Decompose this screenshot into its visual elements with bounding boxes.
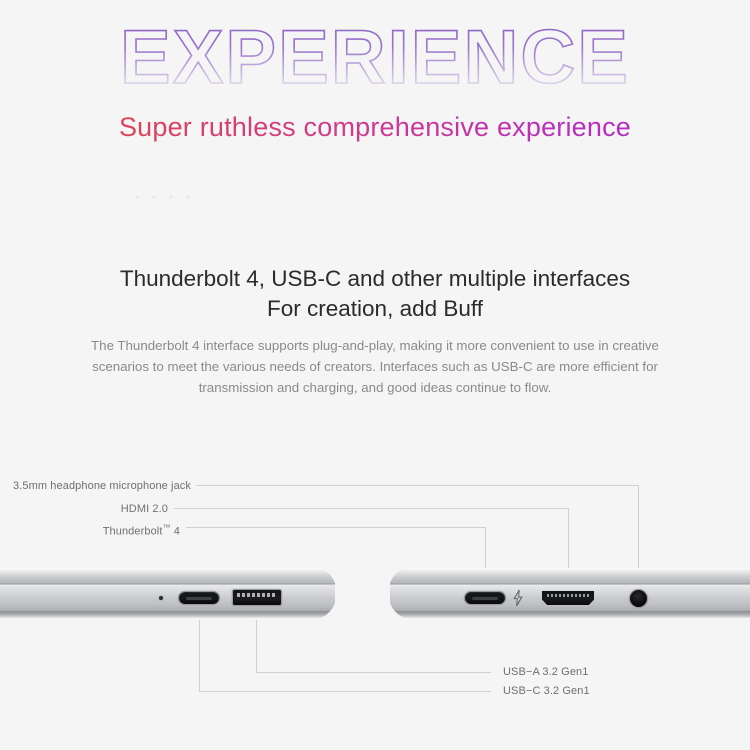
status-led-icon bbox=[159, 596, 163, 600]
decorative-dots bbox=[135, 193, 195, 203]
section-heading-line2: For creation, add Buff bbox=[0, 294, 750, 324]
laptop-right-side-profile bbox=[390, 568, 750, 618]
callout-label-thunderbolt: Thunderbolt™ 4 bbox=[0, 521, 180, 539]
dot-icon bbox=[135, 195, 139, 199]
hdmi-port[interactable] bbox=[542, 591, 594, 605]
laptop-lid bbox=[390, 568, 750, 583]
laptop-left-rounded-end bbox=[311, 566, 337, 620]
lid-highlight bbox=[0, 568, 335, 570]
section-heading-line1: Thunderbolt 4, USB-C and other multiple … bbox=[120, 266, 630, 291]
leader-line-usba-horizontal bbox=[256, 672, 491, 673]
leader-line-hdmi-horizontal bbox=[174, 508, 568, 509]
section-body-text: The Thunderbolt 4 interface supports plu… bbox=[65, 335, 685, 398]
laptop-chamfer bbox=[390, 611, 750, 618]
laptop-lid bbox=[0, 568, 335, 583]
callout-label-headphone-jack: 3.5mm headphone microphone jack bbox=[0, 479, 191, 493]
hero-outline-title-wrap: EXPERIENCE bbox=[0, 12, 750, 104]
hero-subtitle: Super ruthless comprehensive experience bbox=[0, 108, 750, 146]
thunderbolt-port[interactable] bbox=[465, 592, 505, 604]
section-heading: Thunderbolt 4, USB-C and other multiple … bbox=[0, 264, 750, 324]
callout-label-usb-a: USB−A 3.2 Gen1 bbox=[503, 665, 588, 679]
leader-line-usbc-vertical bbox=[199, 620, 200, 691]
laptop-right-rounded-end bbox=[388, 566, 414, 620]
headphone-jack-port[interactable] bbox=[630, 590, 647, 607]
dot-icon bbox=[186, 195, 190, 199]
leader-line-jack-horizontal bbox=[196, 485, 639, 486]
leader-line-usbc-horizontal bbox=[199, 691, 491, 692]
callout-label-thunderbolt-suffix: 4 bbox=[171, 526, 180, 538]
callout-label-usb-c: USB−C 3.2 Gen1 bbox=[503, 684, 590, 698]
usb-c-port[interactable] bbox=[179, 592, 219, 604]
dot-icon bbox=[169, 195, 173, 199]
lid-highlight bbox=[390, 568, 750, 570]
callout-label-thunderbolt-text: Thunderbolt bbox=[103, 526, 163, 538]
usb-a-port[interactable] bbox=[233, 590, 281, 605]
thunderbolt-bolt-icon bbox=[513, 590, 525, 606]
laptop-chamfer bbox=[0, 611, 335, 618]
trademark-icon: ™ bbox=[163, 523, 171, 532]
product-feature-page: EXPERIENCE Super ruthless comprehensive … bbox=[0, 0, 750, 750]
callout-label-hdmi: HDMI 2.0 bbox=[0, 502, 168, 516]
laptop-left-side-profile bbox=[0, 568, 335, 618]
leader-line-thunderbolt-horizontal bbox=[186, 527, 485, 528]
dot-icon bbox=[152, 195, 156, 199]
hero-outline-title: EXPERIENCE bbox=[0, 12, 750, 104]
leader-line-usba-vertical bbox=[256, 620, 257, 672]
laptop-base bbox=[0, 585, 335, 611]
